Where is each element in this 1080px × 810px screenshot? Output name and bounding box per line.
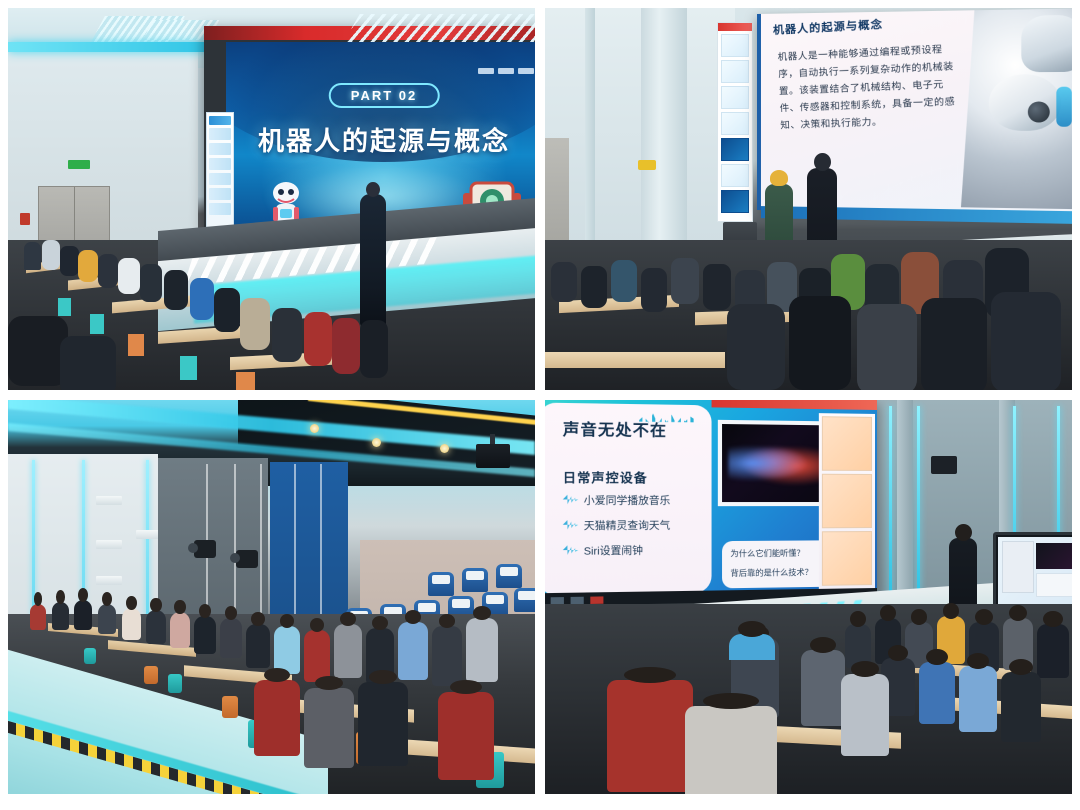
stool [180, 356, 197, 380]
slide-subtitle: 日常声控设备 [563, 468, 648, 486]
student [164, 270, 188, 310]
speaker-wave-icon [563, 520, 578, 530]
student [272, 308, 302, 362]
stool [144, 666, 158, 684]
student [703, 264, 731, 310]
stool [90, 314, 104, 334]
projected-slide: 机器人的起源与概念 机器人是一种能够通过编程或预设程序，自动执行一系列复杂动作的… [757, 8, 1072, 216]
slide-right-thumbnails [819, 413, 875, 593]
student [24, 242, 41, 270]
student [170, 612, 190, 648]
student-seating-area [545, 614, 1072, 794]
wall-pillar-thin [585, 8, 595, 258]
slide-title: 机器人的起源与概念 [258, 121, 510, 158]
student [551, 262, 577, 302]
panel-top-left: PART 02 机器人的起源与概念 [8, 8, 535, 390]
student [140, 264, 162, 302]
student [220, 618, 242, 658]
waveform-photo [718, 420, 833, 506]
bullet-label: 天猫精灵查询天气 [584, 517, 671, 533]
stool [222, 696, 238, 718]
question-line-1: 为什么它们能听懂？ [730, 547, 820, 560]
student [98, 604, 116, 634]
projected-slide: 声音无处不在 日常声控设备 小爱同学播放音乐 天猫精灵查询天气 [545, 400, 877, 606]
slide-toolbar-chips [478, 68, 534, 74]
bullet-label: 小爱同学播放音乐 [584, 492, 671, 508]
panel-bottom-left [8, 400, 535, 794]
student [30, 604, 46, 630]
robot-blue-accent [1056, 87, 1071, 127]
panel-top-right: 机器人的起源与概念 机器人是一种能够通过编程或预设程序，自动执行一系列复杂动作的… [545, 8, 1072, 390]
display-video [1036, 543, 1072, 569]
slide-red-bar [712, 400, 877, 410]
student [1037, 624, 1069, 678]
student [122, 608, 141, 640]
student [841, 674, 889, 756]
student-foreground [60, 336, 116, 390]
student-foreground [727, 304, 785, 390]
ceiling-spotlight [372, 438, 381, 447]
wall-neon-strip [889, 406, 892, 606]
student-foreground-red [607, 680, 693, 792]
student-red-coat [304, 630, 330, 682]
student [60, 246, 79, 276]
student [52, 602, 69, 630]
student [214, 288, 240, 332]
wall-neon-strip [917, 406, 920, 606]
stool [84, 648, 96, 664]
student [398, 622, 428, 680]
stool [236, 372, 255, 390]
student-foreground [857, 304, 917, 390]
student-foreground [8, 316, 68, 386]
slide-white-card: 声音无处不在 日常声控设备 小爱同学播放音乐 天猫精灵查询天气 [545, 403, 712, 596]
stool [168, 674, 182, 693]
student [274, 626, 300, 674]
bullet-label: Siri设置闹钟 [584, 542, 643, 558]
student-foreground [304, 688, 354, 768]
wall-camera [194, 540, 216, 558]
slide-thumbnail-strip [717, 22, 753, 222]
student [240, 298, 270, 350]
student [98, 254, 118, 288]
student [360, 320, 388, 378]
wall-sign [638, 160, 656, 170]
slide-body-text: 机器人是一种能够通过编程或预设程序，自动执行一系列复杂动作的机械装置。该装置结合… [777, 40, 962, 134]
wall-shelf [96, 540, 122, 549]
wall-column [897, 400, 913, 610]
robot-head [989, 74, 1061, 131]
student [118, 258, 140, 294]
student-blue-hat [919, 662, 955, 724]
question-bubble: 为什么它们能听懂？ 背后靠的是什么技术？ [722, 540, 829, 588]
student [641, 268, 667, 312]
wall-speaker [931, 456, 957, 474]
student [246, 624, 270, 668]
question-line-2: 背后靠的是什么技术？ [730, 567, 820, 580]
student [1001, 672, 1041, 742]
slide-title: 机器人的起源与概念 [773, 16, 884, 38]
student [304, 312, 332, 366]
slide-bullet-list: 小爱同学播放音乐 天猫精灵查询天气 Siri设置闹钟 [563, 492, 670, 568]
student [671, 258, 699, 304]
ceiling-spotlight [310, 424, 319, 433]
student [332, 318, 360, 374]
ceiling-spotlight [440, 444, 449, 453]
student-foreground-red [438, 692, 494, 780]
student [611, 260, 637, 302]
left-wall [545, 8, 735, 258]
wall-pillar [641, 8, 687, 258]
student-foreground [358, 682, 408, 766]
display-panel [1036, 573, 1072, 597]
student [78, 250, 98, 282]
student [466, 618, 498, 682]
display-screen [998, 537, 1072, 605]
student-foreground [991, 292, 1061, 390]
student [190, 278, 214, 320]
wall-led-strip [8, 42, 208, 52]
robot-eye [1028, 101, 1050, 122]
student [801, 650, 845, 726]
student-foreground [921, 298, 987, 390]
list-item: Siri设置闹钟 [563, 541, 670, 558]
fire-alarm-box [20, 213, 30, 225]
student-seating-area [8, 596, 535, 786]
student-foreground [789, 296, 851, 390]
student [432, 626, 462, 686]
desk-foreground [545, 352, 725, 368]
student [581, 266, 607, 308]
student [146, 610, 166, 644]
list-item: 天猫精灵查询天气 [563, 517, 670, 533]
wall-shelf [96, 496, 122, 505]
wall-camera [236, 550, 258, 568]
robot-upper-body [1021, 15, 1072, 72]
interactive-display [993, 532, 1072, 610]
part-label: PART 02 [329, 83, 440, 108]
student [334, 624, 362, 678]
stool [58, 298, 71, 316]
exit-sign [68, 160, 90, 169]
slide-thumbnail-sidebar [206, 112, 234, 236]
student-cap [729, 634, 775, 660]
speaker-wave-icon [563, 495, 578, 504]
student [959, 666, 997, 732]
student-foreground [685, 706, 777, 794]
student-seating-area [545, 244, 1072, 390]
student-foreground-red [254, 680, 300, 756]
robot-photo [961, 8, 1072, 209]
student [194, 616, 216, 654]
speaker-wave-icon [563, 545, 578, 555]
photo-collage: PART 02 机器人的起源与概念 [0, 0, 1080, 810]
collage-grid: PART 02 机器人的起源与概念 [8, 8, 1072, 802]
list-item: 小爱同学播放音乐 [563, 492, 670, 508]
display-left-pane [1002, 541, 1034, 593]
panel-bottom-right: 声音无处不在 日常声控设备 小爱同学播放音乐 天猫精灵查询天气 [545, 400, 1072, 794]
stool [128, 334, 144, 356]
ceiling-projector [476, 444, 510, 468]
student [74, 600, 92, 630]
student-seating-area [8, 236, 535, 390]
wall-shelf [96, 576, 122, 585]
student [42, 240, 60, 270]
